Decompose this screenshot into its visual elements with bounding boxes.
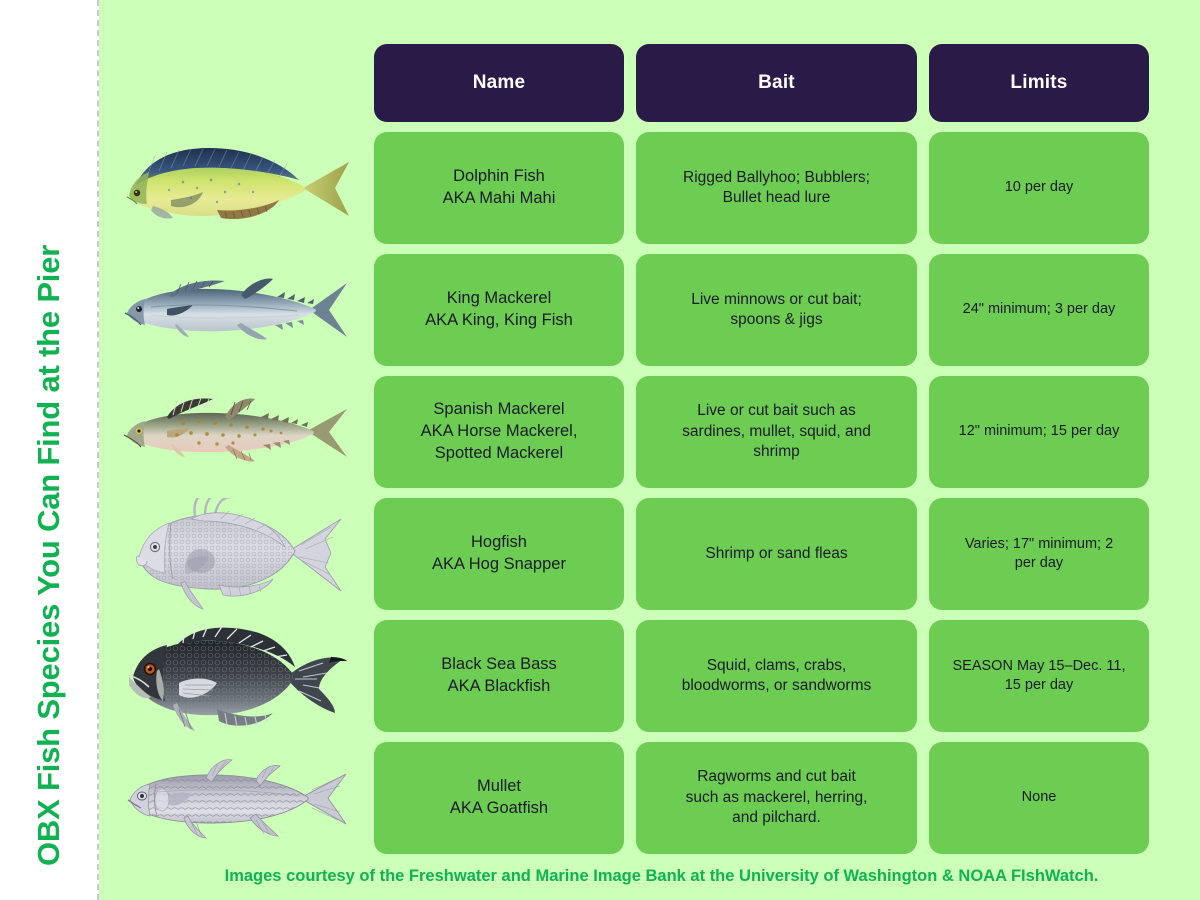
table-cell-bait: Squid, clams, crabs,bloodworms, or sandw… — [636, 620, 917, 732]
content-panel: Name Bait Limits — [99, 0, 1200, 900]
table-cell-name: King MackerelAKA King, King Fish — [374, 254, 624, 366]
left-rail: OBX Fish Species You Can Find at the Pie… — [0, 0, 98, 900]
page-title: OBX Fish Species You Can Find at the Pie… — [0, 0, 98, 900]
dolphin-fish-illustration — [110, 132, 362, 244]
table-cell-bait: Live or cut bait such assardines, mullet… — [636, 376, 917, 488]
table-cell-name: Spanish MackerelAKA Horse Mackerel,Spott… — [374, 376, 624, 488]
hogfish-illustration — [110, 498, 362, 610]
table-cell-bait: Rigged Ballyhoo; Bubblers;Bullet head lu… — [636, 132, 917, 244]
king-mackerel-illustration — [110, 254, 362, 366]
table-cell-name: Dolphin FishAKA Mahi Mahi — [374, 132, 624, 244]
infographic-page: OBX Fish Species You Can Find at the Pie… — [0, 0, 1200, 900]
column-header-bait: Bait — [636, 44, 917, 122]
table-cell-limits: 24" minimum; 3 per day — [929, 254, 1149, 366]
table-cell-limits: 12" minimum; 15 per day — [929, 376, 1149, 488]
black-sea-bass-illustration — [110, 620, 362, 732]
image-credit-footer: Images courtesy of the Freshwater and Ma… — [99, 867, 1200, 886]
table-cell-name: HogfishAKA Hog Snapper — [374, 498, 624, 610]
table-cell-limits: 10 per day — [929, 132, 1149, 244]
table-cell-name: Black Sea BassAKA Blackfish — [374, 620, 624, 732]
mullet-illustration — [110, 742, 362, 854]
table-cell-name: MulletAKA Goatfish — [374, 742, 624, 854]
table-cell-limits: None — [929, 742, 1149, 854]
column-header-name: Name — [374, 44, 624, 122]
table-cell-limits: Varies; 17" minimum; 2per day — [929, 498, 1149, 610]
header-image-spacer — [110, 44, 362, 122]
table-cell-bait: Shrimp or sand fleas — [636, 498, 917, 610]
table-cell-limits: SEASON May 15–Dec. 11,15 per day — [929, 620, 1149, 732]
spanish-mackerel-illustration — [110, 376, 362, 488]
fish-species-table: Name Bait Limits — [99, 0, 1200, 860]
table-cell-bait: Live minnows or cut bait;spoons & jigs — [636, 254, 917, 366]
column-header-limits: Limits — [929, 44, 1149, 122]
table-cell-bait: Ragworms and cut baitsuch as mackerel, h… — [636, 742, 917, 854]
